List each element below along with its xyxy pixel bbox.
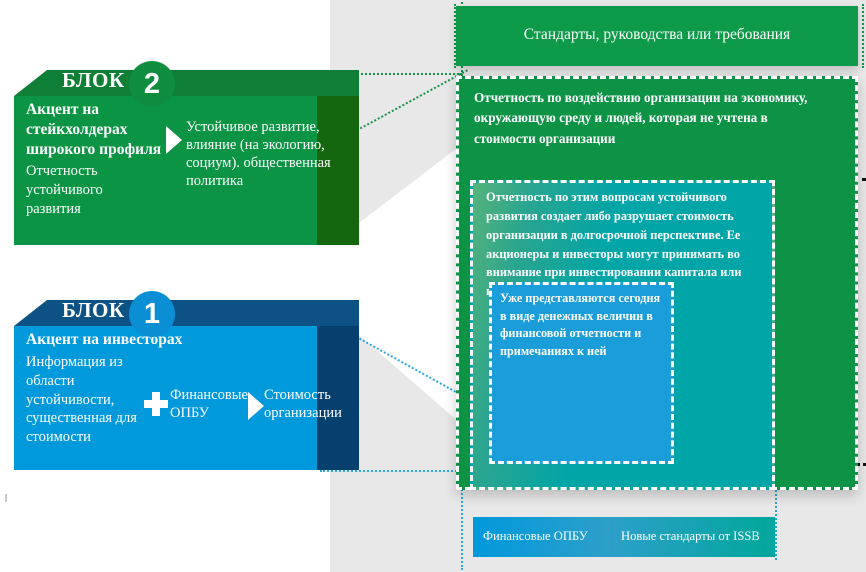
block-1-number-badge: 1 <box>129 291 175 337</box>
plus-icon <box>144 392 168 416</box>
legend-item-issb: Новые стандарты от ISSB <box>621 529 760 544</box>
arrow-right-icon <box>166 126 182 154</box>
standards-header-text: Стандарты, руководства или требования <box>456 26 858 44</box>
block-2-right-text: Устойчивое развитие, влияние (на экологи… <box>186 118 346 191</box>
diagram-canvas: БЛОК 2 Акцент на стейкхолдерах широкого … <box>0 0 866 572</box>
legend-bar[interactable]: Финансовые ОПБУ Новые стандарты от ISSB <box>473 517 775 557</box>
block-2-body: Акцент на стейкхолдерах широкого профиля… <box>26 100 351 241</box>
block-1-sub-text: Информация из области устойчивости, суще… <box>26 353 144 447</box>
block-1-right-text: Стоимость организации <box>264 386 352 422</box>
block-1-body: Акцент на инвесторах Информация из облас… <box>26 330 351 466</box>
standards-header-bar[interactable]: Стандарты, руководства или требования <box>456 6 858 66</box>
arrow-right-icon <box>248 392 264 420</box>
block-2-kicker: БЛОК <box>62 68 125 93</box>
block-1-mid-text: Финансовые ОПБУ <box>170 386 252 422</box>
block-2-card[interactable]: БЛОК 2 Акцент на стейкхолдерах широкого … <box>14 70 359 245</box>
edge-tick-mark <box>5 494 7 502</box>
block-1-kicker: БЛОК <box>62 298 125 323</box>
connector-vertical-blue-right <box>775 485 777 560</box>
block-2-lead-text: Акцент на стейкхолдерах широкого профиля <box>26 100 176 159</box>
block-1-header: БЛОК 1 <box>14 300 359 326</box>
block-2-header: БЛОК 2 <box>14 70 359 96</box>
legend-item-gaap: Финансовые ОПБУ <box>483 529 588 544</box>
block-1-card[interactable]: БЛОК 1 Акцент на инвесторах Информация и… <box>14 300 359 470</box>
block-2-number-badge: 2 <box>129 61 175 107</box>
block-2-sub-text: Отчетность устойчивого развития <box>26 162 146 219</box>
impact-reporting-text: Отчетность по воздействию организации на… <box>474 88 819 149</box>
financial-statements-text: Уже представляются сегодня в виде денежн… <box>500 290 666 361</box>
